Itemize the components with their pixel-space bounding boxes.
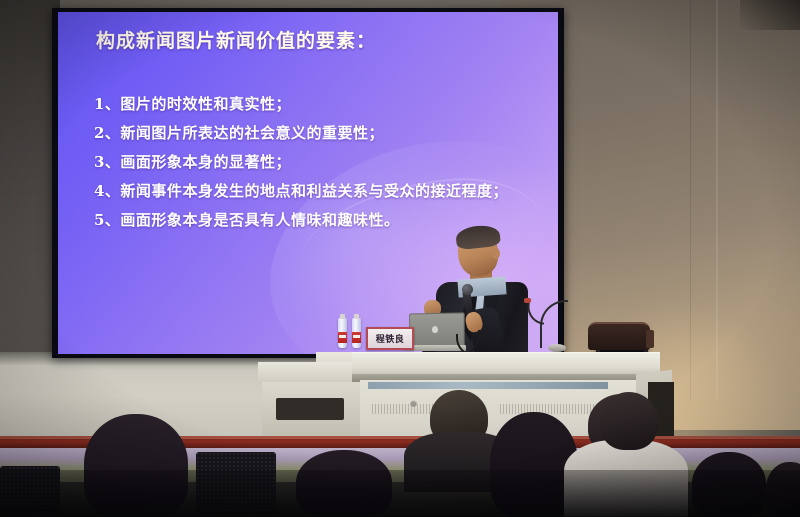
lecture-hall-photo: 构成新闻图片新闻价值的要素： 1、图片的时效性和真实性； 2、新闻图片所表达的社… (0, 0, 800, 517)
bottle-label (338, 332, 347, 343)
podium-control-strip (368, 382, 608, 389)
gooseneck-microphone-head (524, 298, 531, 303)
bottle-label (352, 332, 361, 343)
speaker-ear (492, 248, 500, 259)
side-desk-opening (276, 398, 344, 420)
water-bottle (352, 318, 361, 348)
bottle-cap (340, 314, 345, 319)
handheld-microphone-head (462, 284, 473, 295)
slide-bullet-list: 1、图片的时效性和真实性； 2、新闻图片所表达的社会意义的重要性； 3、画面形象… (94, 90, 554, 235)
slide-item: 4、新闻事件本身发生的地点和利益关系与受众的接近程度； (94, 177, 554, 206)
slide-item: 3、画面形象本身的显著性； (94, 148, 554, 177)
audience-foreground-shadow (0, 470, 800, 517)
bottle-cap (354, 314, 359, 319)
podium-button (410, 400, 417, 407)
stage-chair-arm (646, 330, 654, 348)
speaker-nameplate: 程铁良 (366, 327, 414, 350)
water-bottle (338, 318, 347, 348)
left-wall (0, 0, 60, 360)
slide-item: 2、新闻图片所表达的社会意义的重要性； (94, 119, 554, 148)
audience-person-head-front (600, 392, 658, 450)
corner-shadow (740, 0, 800, 30)
speaker-nameplate-text: 程铁良 (376, 332, 405, 345)
slide-item: 1、图片的时效性和真实性； (94, 90, 554, 119)
stage-chair (588, 322, 650, 350)
gooseneck-microphone-base (548, 344, 566, 352)
slide-title: 构成新闻图片新闻价值的要素： (96, 26, 376, 53)
